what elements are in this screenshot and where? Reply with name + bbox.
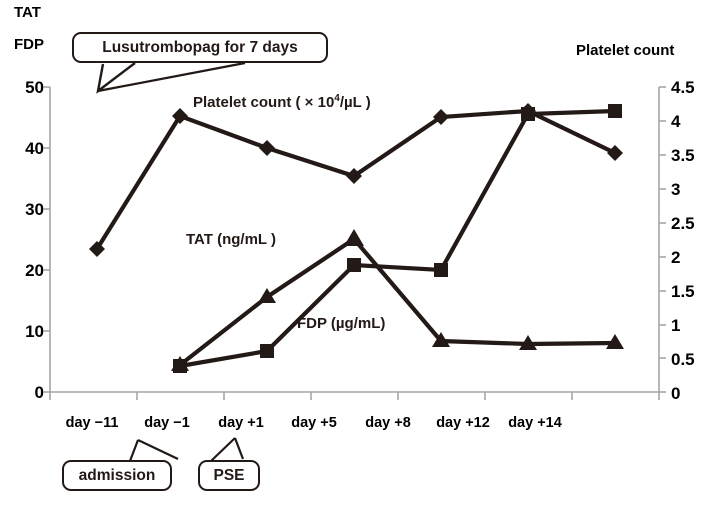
plot-area [0, 0, 716, 506]
axis-ticks-right [659, 87, 666, 392]
axis-ticks-bottom [50, 392, 659, 400]
series-markers-tat [171, 229, 624, 371]
callout-lusutrombopag[interactable]: Lusutrombopag for 7 days [72, 32, 328, 63]
callout-pse[interactable]: PSE [198, 460, 260, 491]
marker-square [347, 258, 361, 272]
marker-triangle [344, 229, 364, 246]
marker-square [260, 344, 274, 358]
marker-square [521, 107, 535, 121]
callout-admission[interactable]: admission [62, 460, 172, 491]
marker-diamond [259, 140, 275, 156]
marker-diamond [607, 145, 623, 161]
marker-triangle [258, 288, 276, 303]
series-line-tat [180, 239, 615, 365]
series-line-fdp [180, 111, 615, 366]
marker-square [608, 104, 622, 118]
callout-tail-admission [130, 440, 180, 461]
chart-figure: TAT FDP Platelet count 50 40 30 20 10 0 … [0, 0, 716, 506]
axis-ticks-left [43, 87, 50, 392]
callout-tail-drug [98, 63, 245, 91]
marker-square [434, 263, 448, 277]
callout-tail-pse [211, 438, 244, 461]
